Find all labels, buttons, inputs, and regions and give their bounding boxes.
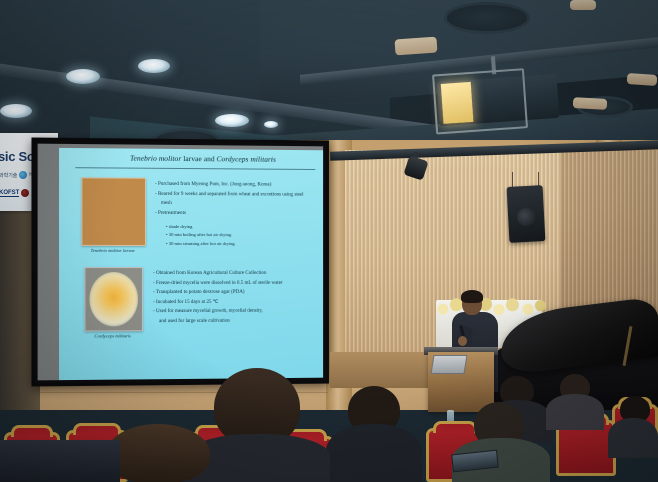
sub-bullet-text: 30 min boiling after hot air drying [169, 232, 231, 237]
mealworm-larvae-caption: Tenebrio molitor larvae [69, 248, 156, 253]
sub-bullet-text: shade drying [169, 224, 193, 229]
cordyceps-caption: Cordyceps militaris [71, 333, 154, 339]
ceiling-downlight [138, 59, 170, 73]
projection-screen: Tenebrio molitor larvae and Cordyceps mi… [31, 138, 328, 387]
cordyceps-petri-dish-photo [84, 267, 143, 332]
audience-shoulders [546, 394, 604, 430]
audience-shoulders [326, 424, 422, 482]
presentation-slide: Tenebrio molitor larvae and Cordyceps mi… [59, 148, 323, 380]
bullet-continuation: mesh [155, 199, 304, 209]
bullet-text: Purchased from Myeong Pum, Inc. (Jung-se… [158, 181, 271, 188]
sub-bullet-item: • 30 min boiling after hot air drying [166, 231, 235, 240]
presenter-hand [458, 336, 467, 346]
bullet-item: - Transplanted to potato dextrose agar (… [153, 288, 283, 298]
mealworm-larvae-photo [81, 177, 146, 246]
ceiling-mounted-projector [422, 61, 576, 139]
ceiling-downlight [66, 69, 100, 84]
bullet-text: Transplanted to potato dextrose agar (PD… [156, 289, 245, 295]
chair-crest [11, 425, 54, 437]
chair-crest [73, 423, 120, 435]
conference-hall-photo: sic Scie 과학기술 ha KOFST Tenebrio molitor … [0, 0, 658, 482]
bullet-item: - Obtained from Korean Agricultural Cult… [153, 269, 283, 279]
presenter-hair [461, 290, 483, 303]
slide-title-divider [75, 167, 315, 170]
spotlight-head [403, 155, 428, 180]
bullet-text: Incubated for 15 days at 25 ℃ [156, 299, 218, 305]
sub-bullet-item: • shade drying [166, 223, 235, 232]
bullet-item: - Freeze-dried mycelia were dissolved in… [153, 278, 283, 288]
bullet-item: - Purchased from Myeong Pum, Inc. (Jung-… [155, 180, 304, 190]
ceiling-warm-panel [573, 97, 608, 110]
sub-bullet-text: 30 min steaming after hot air drying [169, 241, 235, 246]
bullet-item: - Reared for 9 weeks and separated from … [155, 189, 304, 199]
ceiling-downlight [0, 104, 32, 118]
slide-title-genus-species-2: Cordyceps militaris [217, 154, 276, 163]
bullet-item: - Pretreatments [155, 209, 304, 219]
bullet-text: Freeze-dried mycelia were dissolved in 0… [156, 279, 283, 285]
bullet-text: Pretreatments [158, 210, 186, 216]
audience-shoulders [608, 418, 658, 458]
ceiling-warm-panel [627, 73, 658, 86]
wall-mounted-loudspeaker [507, 185, 546, 243]
petri-dish-culture [89, 272, 138, 326]
slide-section-one-bullets: - Purchased from Myeong Pum, Inc. (Jung-… [155, 180, 304, 219]
chair-crest [433, 421, 477, 433]
ceiling-diffuser-ring [444, 2, 530, 34]
presenter-laptop [430, 355, 467, 374]
slide-section-one-subbullets: • shade drying • 30 min boiling after ho… [155, 223, 235, 248]
audience-head-foreground [106, 424, 210, 482]
banner-org-row: 과학기술 ha [0, 171, 35, 179]
banner-kofst-text: KOFST [0, 190, 19, 197]
sub-bullet-item: • 30 min steaming after hot air drying [166, 240, 235, 248]
banner-sponsor-logo-icon [21, 189, 29, 197]
bullet-text: Obtained from Korean Agricultural Cultur… [156, 270, 266, 276]
bullet-item: - Incubated for 15 days at 25 ℃ [153, 297, 283, 307]
banner-org-text-ko: 과학기술 [0, 172, 17, 179]
speaker-cone [517, 208, 536, 227]
banner-sponsor-row: KOFST [0, 189, 29, 197]
bullet-item: - Used for measure mycelial growth, myce… [153, 307, 283, 317]
slide-title-genus-species-1: Tenebrio molitor [130, 154, 181, 163]
stage-spotlight [404, 152, 430, 182]
ceiling-downlight [215, 114, 249, 127]
projector-light-panel [441, 82, 474, 124]
bullet-text: Used for measure mycelial growth, myceli… [156, 308, 263, 314]
speaker-wire [512, 172, 513, 188]
audience-table [0, 440, 120, 482]
banner-logo-circle-icon [19, 171, 27, 179]
slide-title-conjunction: larvae and [181, 154, 216, 163]
slide-title: Tenebrio molitor larvae and Cordyceps mi… [89, 153, 315, 164]
bullet-continuation: and used for large scale cultivation [153, 317, 283, 327]
ceiling-warm-panel [570, 0, 596, 10]
slide-section-two-bullets: - Obtained from Korean Agricultural Cult… [153, 269, 283, 327]
ceiling-warm-panel [394, 37, 437, 56]
ceiling-downlight [264, 121, 278, 128]
bullet-text: Reared for 9 weeks and separated from wh… [158, 190, 304, 197]
projection-screen-surface: Tenebrio molitor larvae and Cordyceps mi… [38, 144, 324, 381]
